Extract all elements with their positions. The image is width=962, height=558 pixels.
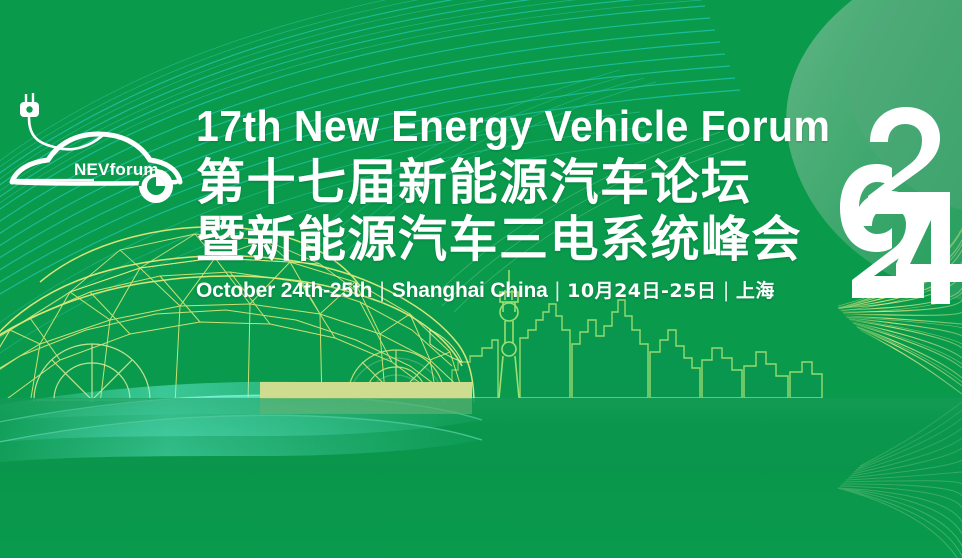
event-meta-line: October 24th-25th|Shanghai China|10月24日-… <box>196 279 846 303</box>
title-english: 17th New Energy Vehicle Forum <box>196 104 801 150</box>
nevforum-logo[interactable]: NEVforum <box>6 78 184 210</box>
meta-date-cn: 10月24日-25日 <box>567 280 716 302</box>
logo-text-forum: forum <box>110 160 159 179</box>
meta-separator-3: | <box>716 279 735 302</box>
meta-separator-2: | <box>548 279 567 302</box>
logo-text-nev: NEV <box>74 160 110 179</box>
water-reflection-band <box>0 398 962 558</box>
skyline-outline <box>452 300 822 398</box>
title-block: 17th New Energy Vehicle Forum 第十七届新能源汽车论… <box>196 104 846 303</box>
title-chinese-line2: 暨新能源汽车三电系统峰会 <box>196 211 846 268</box>
plug-icon <box>20 93 39 117</box>
meta-location-en: Shanghai China <box>392 279 548 302</box>
meta-location-cn: 上海 <box>736 280 775 302</box>
logo-wordmark: NEVforum <box>74 160 159 180</box>
title-chinese-line1: 第十七届新能源汽车论坛 <box>196 154 846 211</box>
year-2024 <box>838 104 962 316</box>
meta-separator-1: | <box>372 279 391 302</box>
event-poster: NEVforum 17th New Energy Vehicle Forum 第… <box>0 0 962 558</box>
meta-date-en: October 24th-25th <box>196 279 372 302</box>
